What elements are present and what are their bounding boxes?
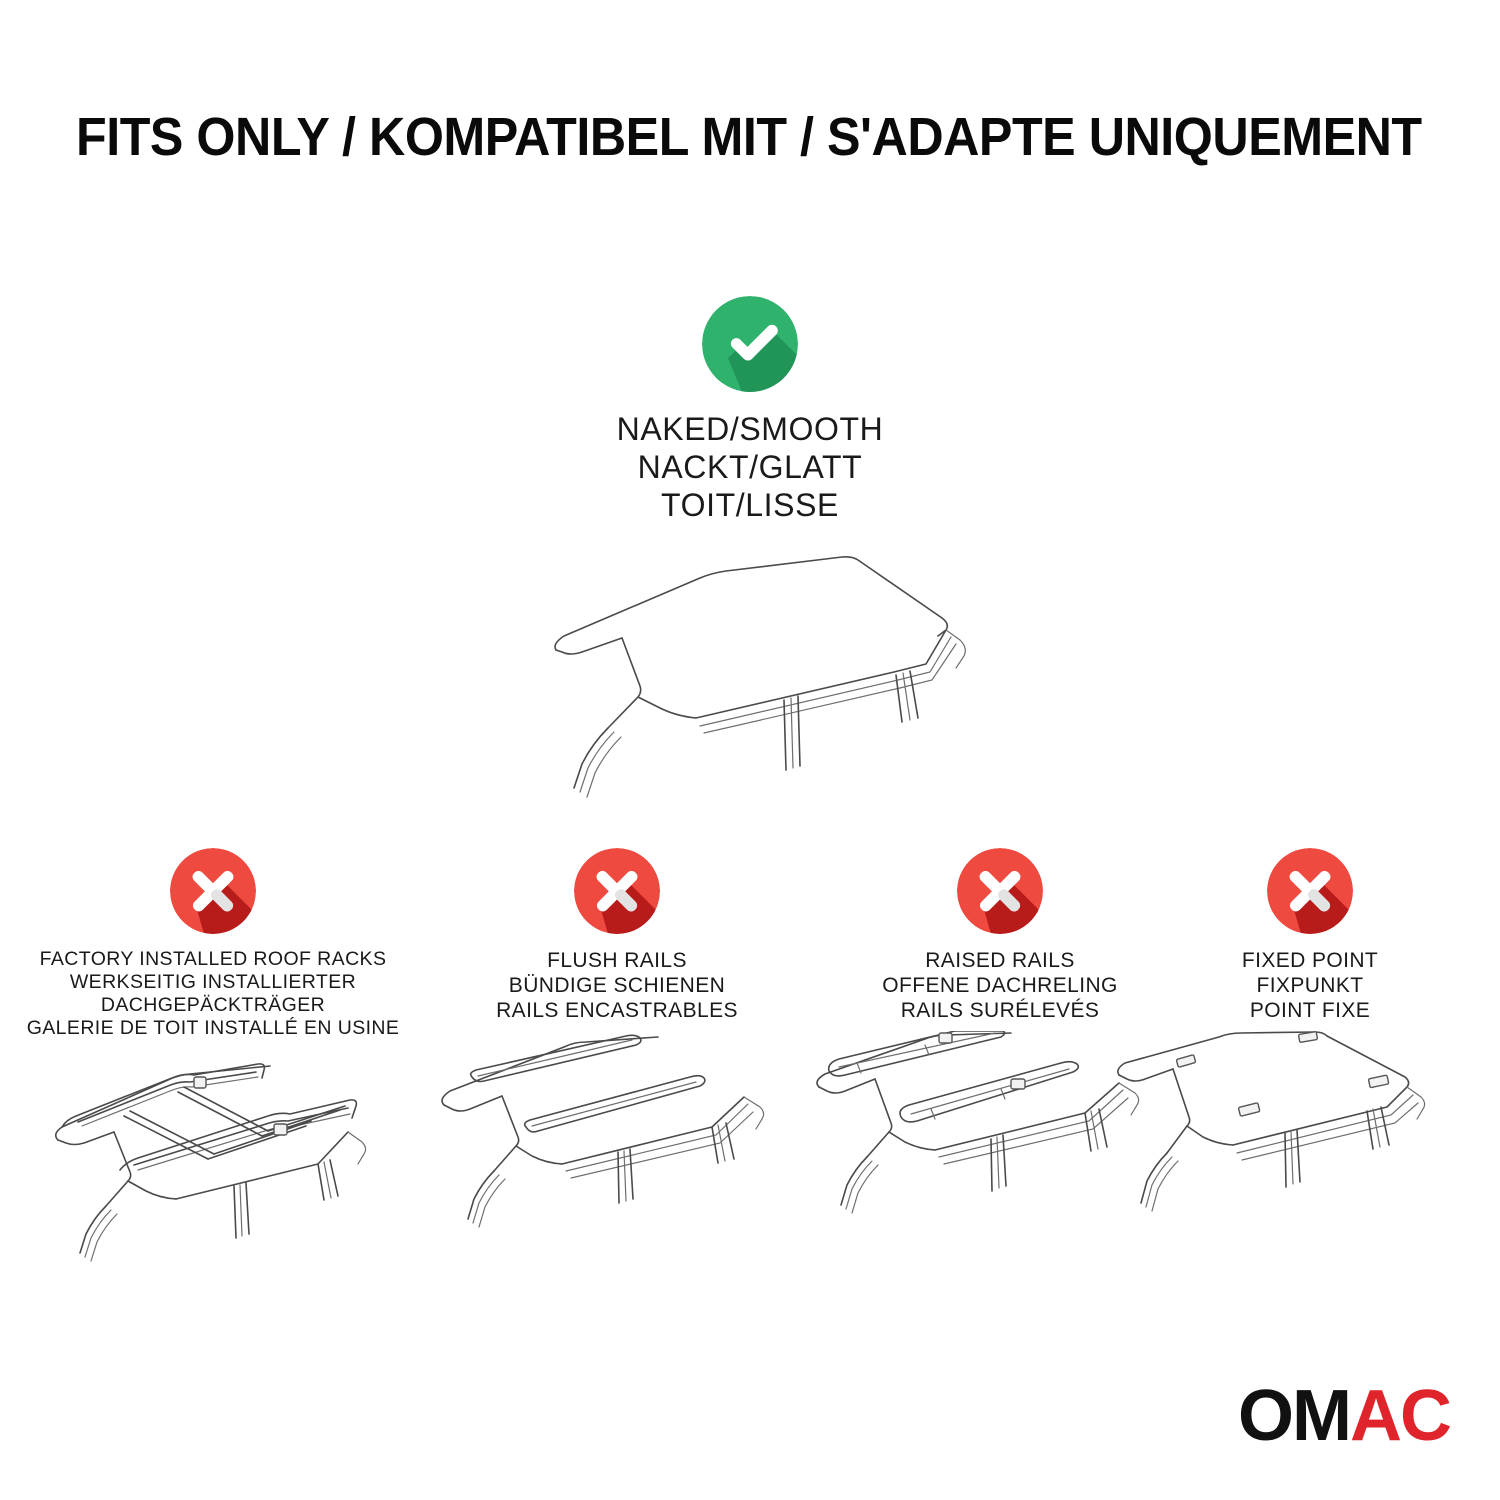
cross-icon <box>1267 848 1353 934</box>
car-roof-naked-smooth-illustration <box>490 540 1010 830</box>
car-roof-flush-rails-illustration <box>422 1031 812 1266</box>
cross-icon <box>574 848 660 934</box>
compatible-label-fr: TOIT/LISSE <box>617 486 884 524</box>
label-de: FIXPUNKT <box>1242 973 1378 998</box>
cross-icon <box>957 848 1043 934</box>
incompatible-item-fixed-point: FIXED POINT FIXPUNKT POINT FIXE <box>1120 848 1500 1266</box>
cross-icon <box>170 848 256 934</box>
label-de-line2: DACHGEPÄCKTRÄGER <box>27 994 400 1017</box>
label-en: RAISED RAILS <box>882 948 1118 973</box>
car-roof-factory-rack-illustration <box>18 1048 408 1283</box>
compatible-label-en: NAKED/SMOOTH <box>617 410 884 448</box>
label-fr: POINT FIXE <box>1242 998 1378 1023</box>
label-de: BÜNDIGE SCHIENEN <box>496 973 738 998</box>
compatible-labels: NAKED/SMOOTH NACKT/GLATT TOIT/LISSE <box>617 410 884 524</box>
omac-logo: OMAC <box>1238 1380 1450 1452</box>
incompatible-labels-flush-rails: FLUSH RAILS BÜNDIGE SCHIENEN RAILS ENCAS… <box>496 948 738 1023</box>
incompatible-item-flush-rails: FLUSH RAILS BÜNDIGE SCHIENEN RAILS ENCAS… <box>422 848 812 1266</box>
incompatible-section: FACTORY INSTALLED ROOF RACKS WERKSEITIG … <box>0 848 1500 1288</box>
logo-text-red: AC <box>1350 1380 1450 1452</box>
car-roof-fixed-point-illustration <box>1115 1031 1500 1266</box>
label-fr: GALERIE DE TOIT INSTALLÉ EN USINE <box>27 1017 400 1040</box>
compatible-section: NAKED/SMOOTH NACKT/GLATT TOIT/LISSE <box>0 296 1500 830</box>
label-fr: RAILS SURÉLEVÉS <box>882 998 1118 1023</box>
incompatible-item-factory-rack: FACTORY INSTALLED ROOF RACKS WERKSEITIG … <box>18 848 408 1283</box>
page-title: FITS ONLY / KOMPATIBEL MIT / S'ADAPTE UN… <box>76 108 1341 166</box>
compatible-label-de: NACKT/GLATT <box>617 448 884 486</box>
incompatible-labels-raised-rails: RAISED RAILS OFFENE DACHRELING RAILS SUR… <box>882 948 1118 1023</box>
incompatible-labels-fixed-point: FIXED POINT FIXPUNKT POINT FIXE <box>1242 948 1378 1023</box>
label-fr: RAILS ENCASTRABLES <box>496 998 738 1023</box>
label-en: FLUSH RAILS <box>496 948 738 973</box>
label-en: FACTORY INSTALLED ROOF RACKS <box>27 948 400 971</box>
incompatible-labels-factory-rack: FACTORY INSTALLED ROOF RACKS WERKSEITIG … <box>27 948 400 1040</box>
logo-text-black: OM <box>1238 1380 1350 1452</box>
check-icon <box>702 296 798 392</box>
label-en: FIXED POINT <box>1242 948 1378 973</box>
label-de-line1: WERKSEITIG INSTALLIERTER <box>27 971 400 994</box>
label-de: OFFENE DACHRELING <box>882 973 1118 998</box>
